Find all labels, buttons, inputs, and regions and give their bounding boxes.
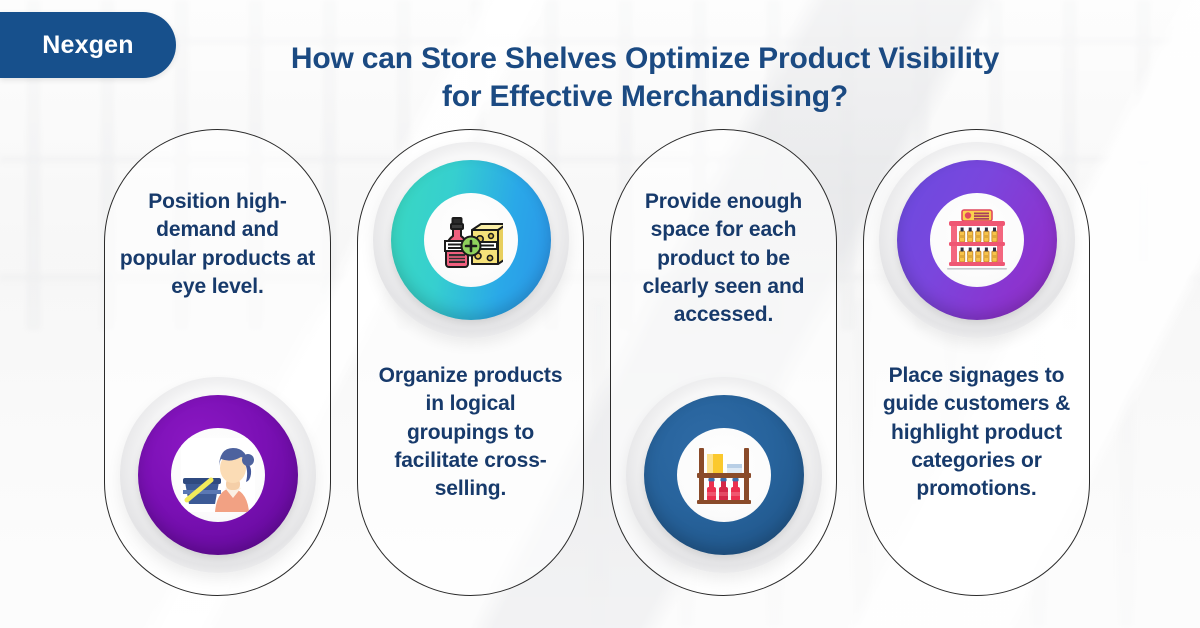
card-eye-level-text: Position high-demand and popular product…: [120, 188, 316, 301]
card-eye-level-ring: [138, 395, 298, 555]
shelf-with-signage-icon: [943, 206, 1011, 274]
card-signage-medallion: [879, 142, 1075, 338]
card-cross-selling-icon-well: [424, 193, 518, 287]
card-spacing-ring: [644, 395, 804, 555]
brand-badge: Nexgen: [0, 12, 176, 78]
card-cross-selling[interactable]: Organize products in logical groupings t…: [357, 129, 584, 596]
wine-and-cheese-bundle-icon: [439, 208, 503, 272]
card-signage[interactable]: Place signages to guide customers & high…: [863, 129, 1090, 596]
card-eye-level-icon-well: [171, 428, 265, 522]
card-eye-level-medallion: [120, 377, 316, 573]
infographic-canvas: Nexgen How can Store Shelves Optimize Pr…: [0, 0, 1200, 628]
card-spacing-medallion: [626, 377, 822, 573]
page-title-line-1: How can Store Shelves Optimize Product V…: [190, 40, 1100, 78]
brand-name: Nexgen: [42, 31, 134, 60]
card-spacing-icon-well: [677, 428, 771, 522]
page-title-line-2: for Effective Merchandising?: [190, 78, 1100, 116]
stocked-shelf-icon: [691, 442, 757, 508]
card-cross-selling-text: Organize products in logical groupings t…: [373, 362, 569, 504]
card-cross-selling-medallion: [373, 142, 569, 338]
card-row: Position high-demand and popular product…: [104, 129, 1094, 596]
card-cross-selling-ring: [391, 160, 551, 320]
shopper-with-basket-icon: [181, 438, 255, 512]
card-signage-icon-well: [930, 193, 1024, 287]
card-spacing[interactable]: Provide enough space for each product to…: [610, 129, 837, 596]
page-title: How can Store Shelves Optimize Product V…: [190, 40, 1100, 117]
card-signage-text: Place signages to guide customers & high…: [879, 362, 1075, 504]
card-spacing-text: Provide enough space for each product to…: [626, 188, 822, 330]
card-signage-ring: [897, 160, 1057, 320]
card-eye-level[interactable]: Position high-demand and popular product…: [104, 129, 331, 596]
